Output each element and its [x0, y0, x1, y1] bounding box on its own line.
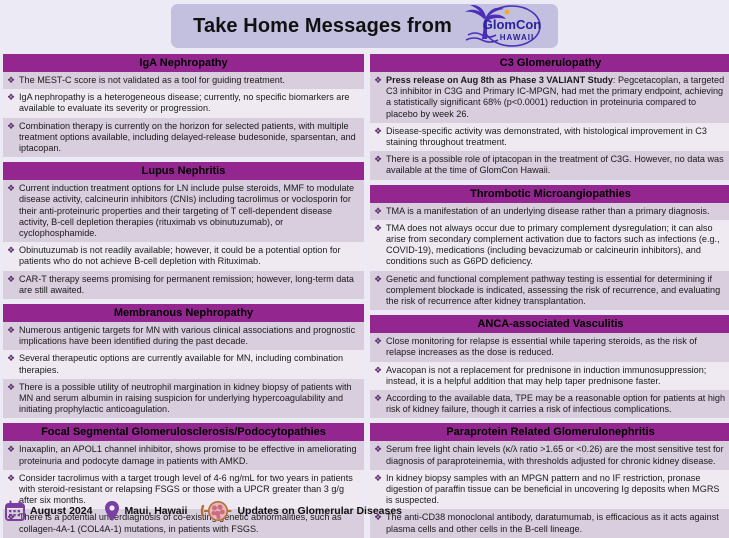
bullet-item: ❖Close monitoring for relapse is essenti…: [370, 333, 729, 361]
bullet-text-run: Serum free light chain levels (κ/λ ratio…: [386, 444, 724, 465]
bullet-text-run: According to the available data, TPE may…: [386, 393, 725, 414]
bullet-diamond-icon: ❖: [7, 353, 19, 375]
bullet-text-run: There is a possible role of iptacopan in…: [386, 154, 724, 175]
bullet-text: Avacopan is not a replacement for predni…: [386, 365, 727, 387]
bullet-text: Combination therapy is currently on the …: [19, 121, 360, 155]
bullet-diamond-icon: ❖: [7, 75, 19, 86]
footer-label: Updates on Glomerular Diseases: [237, 505, 402, 517]
bullet-item: ❖IgA nephropathy is a heterogeneous dise…: [3, 89, 364, 117]
bullet-item: ❖TMA is a manifestation of an underlying…: [370, 203, 729, 220]
section-thrombotic-microangiopathies: Thrombotic Microangiopathies❖TMA is a ma…: [370, 185, 729, 311]
glomcon-logo-svg: GlomCon HAWAII: [460, 5, 544, 47]
bullet-text-run: TMA does not always occur due to primary…: [386, 223, 720, 267]
section-header: IgA Nephropathy: [3, 54, 364, 72]
glomerulus-icon: [199, 500, 233, 522]
title-bar: Take Home Messages from GlomCon: [171, 4, 558, 48]
location-pin-icon: [104, 500, 120, 522]
section-header: C3 Glomerulopathy: [370, 54, 729, 72]
bullet-text-run: Combination therapy is currently on the …: [19, 121, 356, 153]
footer-item: Updates on Glomerular Diseases: [199, 500, 402, 522]
bullet-diamond-icon: ❖: [7, 274, 19, 296]
bullet-text-run: There is a possible utility of neutrophi…: [19, 382, 352, 414]
bullet-text-run: Obinutuzumab is not readily available; h…: [19, 245, 341, 266]
bullet-text-run: Numerous antigenic targets for MN with v…: [19, 325, 355, 346]
bullet-item: ❖Several therapeutic options are current…: [3, 350, 364, 378]
left-column: IgA Nephropathy❖The MEST-C score is not …: [3, 54, 364, 492]
section-lupus-nephritis: Lupus Nephritis❖Current induction treatm…: [3, 162, 364, 299]
bullet-text: Serum free light chain levels (κ/λ ratio…: [386, 444, 727, 466]
section-header: ANCA-associated Vasculitis: [370, 315, 729, 333]
bullet-diamond-icon: ❖: [374, 126, 386, 148]
section-header: Focal Segmental Glomerulosclerosis/Podoc…: [3, 423, 364, 441]
bullet-text: There is a possible utility of neutrophi…: [19, 382, 360, 416]
section-header: Paraprotein Related Glomerulonephritis: [370, 423, 729, 441]
bullet-text: TMA does not always occur due to primary…: [386, 223, 727, 268]
bullet-text-run: CAR-T therapy seems promising for perman…: [19, 274, 354, 295]
bullet-diamond-icon: ❖: [7, 382, 19, 416]
bullet-diamond-icon: ❖: [7, 325, 19, 347]
footer-item: August 2024: [4, 500, 92, 522]
bullet-item: ❖Inaxaplin, an APOL1 channel inhibitor, …: [3, 441, 364, 469]
bullet-diamond-icon: ❖: [374, 75, 386, 120]
bullet-diamond-icon: ❖: [7, 444, 19, 466]
bullet-item: ❖Current induction treatment options for…: [3, 180, 364, 242]
section-membranous-nephropathy: Membranous Nephropathy❖Numerous antigeni…: [3, 304, 364, 418]
bullet-diamond-icon: ❖: [374, 444, 386, 466]
bullet-diamond-icon: ❖: [374, 154, 386, 176]
bullet-diamond-icon: ❖: [7, 92, 19, 114]
bullet-text: Several therapeutic options are currentl…: [19, 353, 360, 375]
slide-footer: August 2024Maui, HawaiiUpdates on Glomer…: [0, 494, 729, 528]
bullet-item: ❖The MEST-C score is not validated as a …: [3, 72, 364, 89]
bullet-diamond-icon: ❖: [374, 365, 386, 387]
footer-item: Maui, Hawaii: [104, 500, 187, 522]
bullet-text: Numerous antigenic targets for MN with v…: [19, 325, 360, 347]
bullet-diamond-icon: ❖: [374, 223, 386, 268]
bullet-diamond-icon: ❖: [7, 183, 19, 239]
page-title: Take Home Messages from: [193, 15, 452, 38]
bullet-text-run: Several therapeutic options are currentl…: [19, 353, 343, 374]
bullet-text-run: IgA nephropathy is a heterogeneous disea…: [19, 92, 349, 113]
bullet-diamond-icon: ❖: [374, 206, 386, 217]
bullet-text-run: The MEST-C score is not validated as a t…: [19, 75, 285, 85]
right-column: C3 Glomerulopathy❖Press release on Aug 8…: [370, 54, 729, 492]
bullet-text: TMA is a manifestation of an underlying …: [386, 206, 727, 217]
bullet-item: ❖Genetic and functional complement pathw…: [370, 271, 729, 311]
bullet-text-run: Inaxaplin, an APOL1 channel inhibitor, s…: [19, 444, 357, 465]
slide-header: Take Home Messages from GlomCon: [0, 0, 729, 52]
bullet-text: There is a possible role of iptacopan in…: [386, 154, 727, 176]
section-anca-associated-vasculitis: ANCA-associated Vasculitis❖Close monitor…: [370, 315, 729, 418]
bullet-text: Close monitoring for relapse is essentia…: [386, 336, 727, 358]
bullet-item: ❖Press release on Aug 8th as Phase 3 VAL…: [370, 72, 729, 123]
bullet-text-run: TMA is a manifestation of an underlying …: [386, 206, 710, 216]
bullet-text: Disease-specific activity was demonstrat…: [386, 126, 727, 148]
sun-icon: [504, 10, 509, 15]
bullet-text-run: Avacopan is not a replacement for predni…: [386, 365, 706, 386]
bullet-diamond-icon: ❖: [374, 393, 386, 415]
bullet-item: ❖Serum free light chain levels (κ/λ rati…: [370, 441, 729, 469]
bullet-item: ❖CAR-T therapy seems promising for perma…: [3, 271, 364, 299]
bullet-item: ❖Obinutuzumab is not readily available; …: [3, 242, 364, 270]
bullet-text: Press release on Aug 8th as Phase 3 VALI…: [386, 75, 727, 120]
section-c3-glomerulopathy: C3 Glomerulopathy❖Press release on Aug 8…: [370, 54, 729, 180]
bullet-diamond-icon: ❖: [7, 245, 19, 267]
section-header: Thrombotic Microangiopathies: [370, 185, 729, 203]
bullet-item: ❖According to the available data, TPE ma…: [370, 390, 729, 418]
bullet-item: ❖There is a possible role of iptacopan i…: [370, 151, 729, 179]
bullet-text-bold: Press release on Aug 8th as Phase 3 VALI…: [386, 75, 613, 85]
bullet-item: ❖Avacopan is not a replacement for predn…: [370, 362, 729, 390]
bullet-text: The MEST-C score is not validated as a t…: [19, 75, 360, 86]
bullet-text: Inaxaplin, an APOL1 channel inhibitor, s…: [19, 444, 360, 466]
section-header: Lupus Nephritis: [3, 162, 364, 180]
bullet-text-run: Disease-specific activity was demonstrat…: [386, 126, 707, 147]
bullet-text: According to the available data, TPE may…: [386, 393, 727, 415]
bullet-text: IgA nephropathy is a heterogeneous disea…: [19, 92, 360, 114]
bullet-text: Current induction treatment options for …: [19, 183, 360, 239]
bullet-text-run: Current induction treatment options for …: [19, 183, 354, 238]
calendar-icon: [4, 500, 26, 522]
bullet-diamond-icon: ❖: [374, 336, 386, 358]
section-header: Membranous Nephropathy: [3, 304, 364, 322]
logo-sub-wordmark: HAWAII: [500, 33, 534, 42]
bullet-text: CAR-T therapy seems promising for perman…: [19, 274, 360, 296]
bullet-item: ❖TMA does not always occur due to primar…: [370, 220, 729, 271]
bullet-diamond-icon: ❖: [7, 121, 19, 155]
bullet-diamond-icon: ❖: [374, 274, 386, 308]
section-iga-nephropathy: IgA Nephropathy❖The MEST-C score is not …: [3, 54, 364, 157]
bullet-text-run: Close monitoring for relapse is essentia…: [386, 336, 697, 357]
bullet-item: ❖Combination therapy is currently on the…: [3, 118, 364, 158]
content-columns: IgA Nephropathy❖The MEST-C score is not …: [0, 54, 729, 492]
bullet-text-run: Genetic and functional complement pathwa…: [386, 274, 720, 306]
bullet-text: Genetic and functional complement pathwa…: [386, 274, 727, 308]
glomcon-hawaii-logo: GlomCon HAWAII: [460, 5, 544, 47]
bullet-item: ❖Disease-specific activity was demonstra…: [370, 123, 729, 151]
logo-wordmark: GlomCon: [483, 17, 542, 32]
bullet-item: ❖There is a possible utility of neutroph…: [3, 379, 364, 419]
footer-label: August 2024: [30, 505, 92, 517]
bullet-item: ❖Numerous antigenic targets for MN with …: [3, 322, 364, 350]
bullet-text: Obinutuzumab is not readily available; h…: [19, 245, 360, 267]
footer-label: Maui, Hawaii: [124, 505, 187, 517]
